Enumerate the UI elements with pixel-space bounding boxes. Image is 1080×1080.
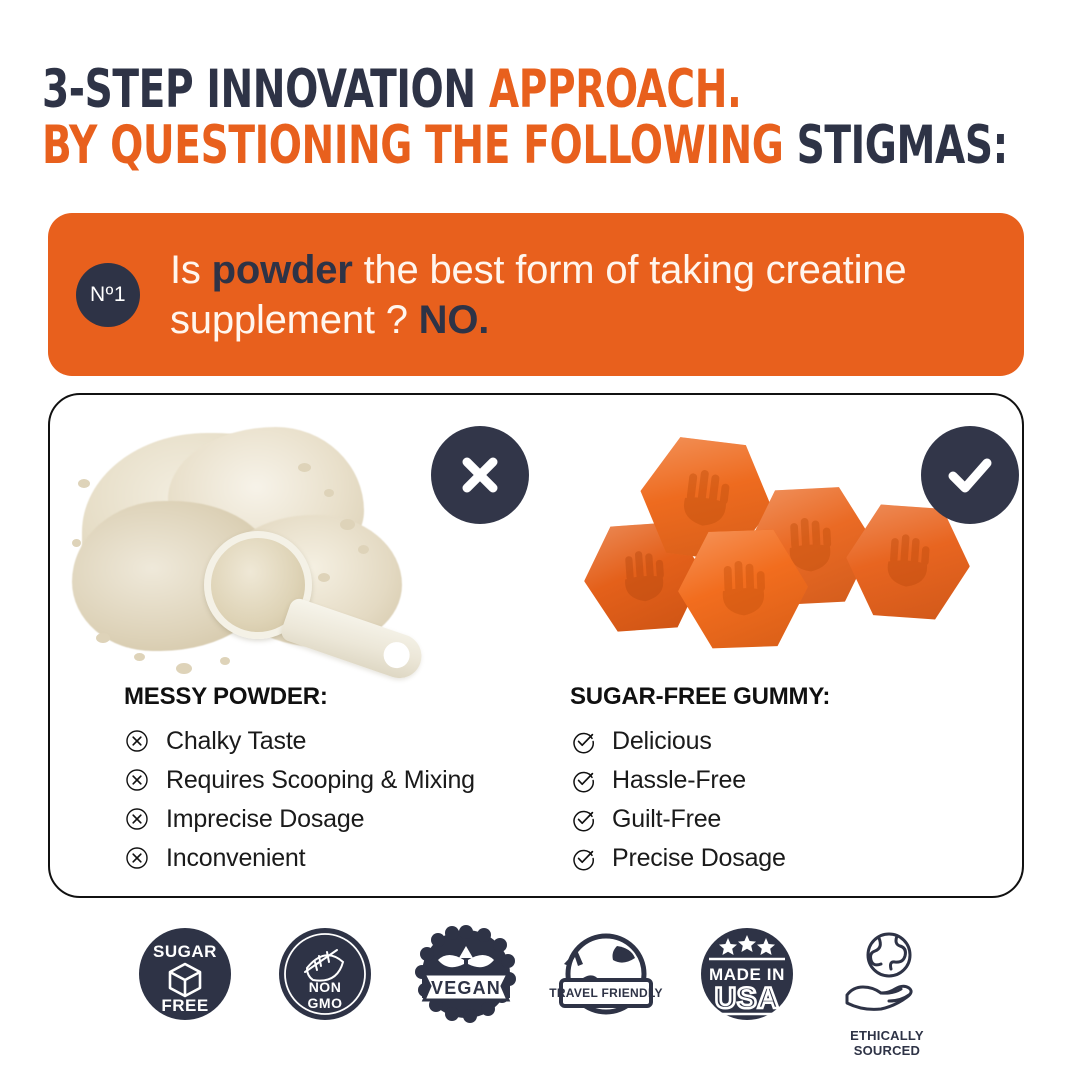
badge-ethically-sourced: ETHICALLY SOURCED <box>828 922 946 1058</box>
badge-sugar-free: SUGAR FREE <box>126 922 244 1028</box>
circled-x-icon <box>124 845 150 871</box>
comparison-card: MESSY POWDER: Chalky Taste <box>48 393 1024 898</box>
list-item: Delicious <box>570 725 990 757</box>
question-text: Is powder the best form of taking creati… <box>170 245 1024 345</box>
svg-text:TRAVEL FRIENDLY: TRAVEL FRIENDLY <box>549 986 663 1000</box>
badge-caption: ETHICALLY SOURCED <box>828 1028 946 1058</box>
step-number-badge: Nº1 <box>76 263 140 327</box>
ethically-sourced-icon <box>837 922 937 1026</box>
list-item: Imprecise Dosage <box>124 803 544 835</box>
svg-text:NON: NON <box>309 979 342 995</box>
question-banner: Nº1 Is powder the best form of taking cr… <box>48 213 1024 376</box>
circled-check-icon <box>570 728 596 754</box>
page-title: 3-STEP INNOVATION APPROACH. BY QUESTIONI… <box>42 62 1042 174</box>
list-item: Requires Scooping & Mixing <box>124 764 544 796</box>
headline-line-1-orange: APPROACH. <box>489 59 742 120</box>
check-icon <box>921 426 1019 524</box>
svg-text:FREE: FREE <box>161 996 208 1015</box>
list-item-label: Precise Dosage <box>612 844 786 873</box>
headline-line-2-orange: BY QUESTIONING THE FOLLOWING <box>42 115 797 176</box>
headline-line-1: 3-STEP INNOVATION APPROACH. <box>42 62 862 118</box>
gummy-list: SUGAR-FREE GUMMY: Delicious <box>570 683 990 881</box>
circled-check-icon <box>570 845 596 871</box>
list-item: Hassle-Free <box>570 764 990 796</box>
non-gmo-icon: NON GMO <box>275 922 375 1026</box>
vegan-icon: VEGAN <box>414 922 518 1026</box>
list-item: Precise Dosage <box>570 842 990 874</box>
sugar-free-icon: SUGAR FREE <box>135 922 235 1026</box>
svg-text:SUGAR: SUGAR <box>153 942 217 961</box>
circled-x-icon <box>124 767 150 793</box>
list-item: Guilt-Free <box>570 803 990 835</box>
list-item-label: Requires Scooping & Mixing <box>166 766 475 795</box>
list-item: Inconvenient <box>124 842 544 874</box>
question-emphasis: powder <box>212 248 353 292</box>
headline-line-2: BY QUESTIONING THE FOLLOWING STIGMAS: <box>42 118 862 174</box>
badge-vegan: VEGAN <box>407 922 525 1028</box>
travel-friendly-icon: TRAVEL FRIENDLY <box>547 922 665 1026</box>
circled-check-icon <box>570 806 596 832</box>
headline-line-2-navy: STIGMAS: <box>797 115 1008 176</box>
question-prefix: Is <box>170 248 212 292</box>
question-answer: NO. <box>419 298 490 342</box>
list-item-label: Delicious <box>612 727 712 756</box>
list-item-label: Chalky Taste <box>166 727 306 756</box>
list-item: Chalky Taste <box>124 725 544 757</box>
circled-check-icon <box>570 767 596 793</box>
list-item-label: Inconvenient <box>166 844 305 873</box>
svg-text:USA: USA <box>714 982 779 1015</box>
trust-badge-row: SUGAR FREE <box>48 922 1024 1062</box>
comparison-column-gummy: SUGAR-FREE GUMMY: Delicious <box>538 395 1024 896</box>
gummy-list-title: SUGAR-FREE GUMMY: <box>570 683 990 711</box>
badge-made-in-usa: MADE IN USA <box>688 922 806 1028</box>
x-icon <box>431 426 529 524</box>
list-item-label: Imprecise Dosage <box>166 805 364 834</box>
infographic-page: 3-STEP INNOVATION APPROACH. BY QUESTIONI… <box>0 0 1080 1080</box>
made-in-usa-icon: MADE IN USA <box>697 922 797 1026</box>
circled-x-icon <box>124 806 150 832</box>
badge-travel-friendly: TRAVEL FRIENDLY <box>547 922 665 1028</box>
list-item-label: Hassle-Free <box>612 766 746 795</box>
svg-text:GMO: GMO <box>308 995 343 1011</box>
headline-line-1-navy: 3-STEP INNOVATION <box>42 59 489 120</box>
circled-x-icon <box>124 728 150 754</box>
comparison-column-powder: MESSY POWDER: Chalky Taste <box>50 395 538 896</box>
list-item-label: Guilt-Free <box>612 805 721 834</box>
powder-list-title: MESSY POWDER: <box>124 683 544 711</box>
badge-non-gmo: NON GMO <box>266 922 384 1028</box>
svg-text:VEGAN: VEGAN <box>431 978 501 998</box>
powder-list: MESSY POWDER: Chalky Taste <box>124 683 544 881</box>
